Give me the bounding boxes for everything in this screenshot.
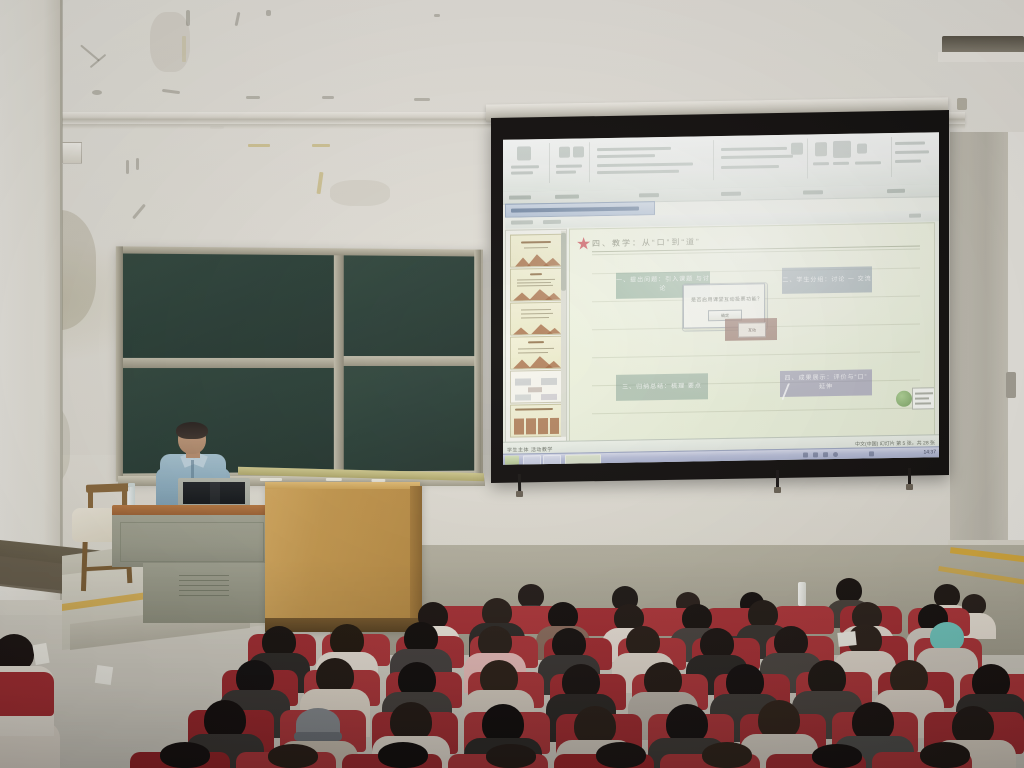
slide-thumbnail[interactable]	[510, 268, 562, 302]
slide-node-brown[interactable]: 互动	[725, 318, 777, 341]
slide-node-brown-label: 互动	[738, 322, 766, 337]
right-wall-recess	[950, 132, 1010, 550]
ppt-slide-canvas[interactable]: ★ 四、教学：从“口”到“道” 一、提出问题：引入课题 与讨论 二、学生分组：讨…	[569, 222, 935, 442]
slide-box-bottom-left[interactable]: 三、归纳总结：梳理 要点	[616, 373, 708, 401]
screen-weight	[774, 487, 781, 493]
slide-title: 四、教学：从“口”到“道”	[592, 236, 701, 249]
podium-top-surface	[265, 482, 420, 489]
ppt-slide-thumbnail-pane[interactable]	[505, 229, 567, 444]
star-glyph: ★	[576, 234, 591, 253]
monitor-screen-highlight	[210, 482, 220, 504]
alcove-handle	[1006, 372, 1016, 398]
slide-tooltip-popup	[912, 387, 935, 409]
slide-thumbnail[interactable]	[510, 302, 562, 336]
slide-dialog-message: 是否启用课堂互动投票功能？	[691, 295, 763, 303]
green-chalkboard	[116, 246, 483, 481]
slide-thumbnail[interactable]	[510, 234, 562, 268]
paper-sheet	[32, 643, 49, 665]
student-audience	[0, 560, 1024, 768]
wall-electrical-box-left	[62, 142, 82, 164]
lecture-hall-photo: ★ 四、教学：从“口”到“道” 一、提出问题：引入课题 与讨论 二、学生分组：讨…	[0, 0, 1024, 768]
recording-indicator-icon[interactable]	[896, 391, 912, 407]
screen-weight	[906, 484, 913, 490]
screen-weight	[516, 491, 523, 497]
wall-pilaster	[0, 0, 62, 600]
water-bottle-audience	[798, 582, 806, 606]
auditorium-seat	[0, 672, 54, 716]
teaching-desk-panel	[120, 522, 264, 562]
screen-weight-strap	[776, 470, 779, 488]
wall-hook	[957, 98, 967, 110]
paper-sheet	[95, 665, 113, 685]
slide-thumbnail[interactable]	[510, 404, 562, 438]
ceiling-ledge	[938, 52, 1024, 62]
slide-thumbnail[interactable]	[510, 336, 562, 370]
ppt-ribbon[interactable]	[503, 132, 939, 193]
slide-thumbnail[interactable]	[510, 370, 562, 404]
screen-weight-strap	[908, 468, 911, 485]
thumbnail-scrollbar-thumb[interactable]	[561, 233, 566, 291]
instructor-hair	[176, 422, 208, 439]
slide-box-top-right[interactable]: 二、学生分组：讨论 一 交流	[782, 266, 872, 294]
projection-screen-surface: ★ 四、教学：从“口”到“道” 一、提出问题：引入课题 与讨论 二、学生分组：讨…	[503, 132, 939, 465]
wall-pilaster-edge	[60, 0, 63, 600]
start-button-icon[interactable]	[505, 456, 519, 465]
paper-sheet	[837, 631, 856, 647]
taskbar-clock: 14:37	[923, 449, 936, 455]
water-bottle-cap	[128, 483, 135, 487]
right-wall-recess-rim	[1008, 132, 1024, 550]
screen-weight-strap	[518, 474, 521, 492]
